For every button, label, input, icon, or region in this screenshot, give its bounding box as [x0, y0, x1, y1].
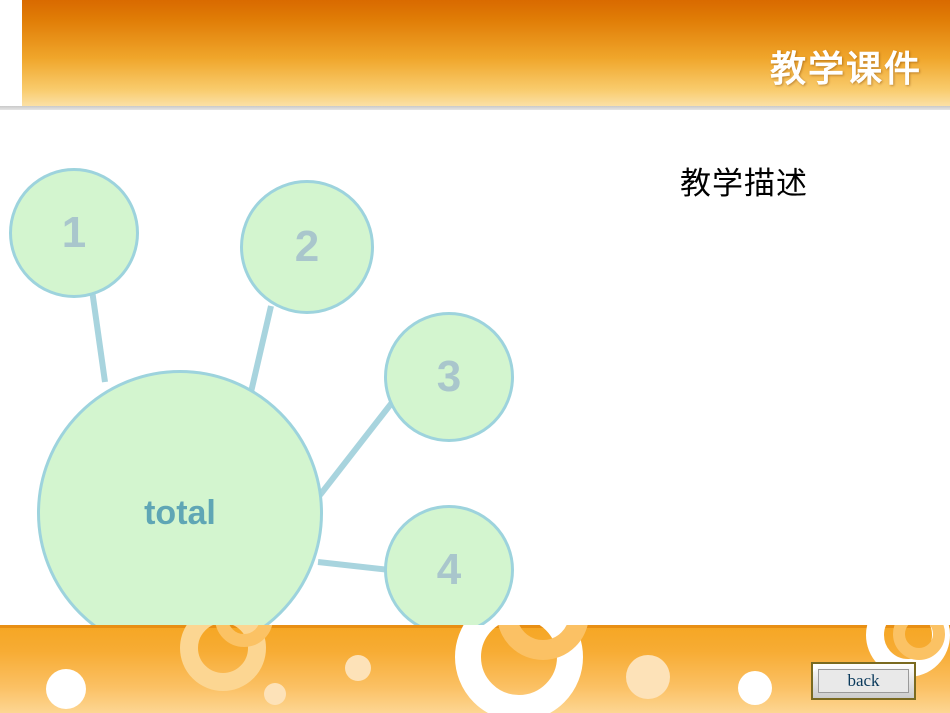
bubble-4-label: 4 — [437, 545, 461, 595]
footer-dot-4 — [738, 671, 772, 705]
page-title: 教学课件 — [770, 40, 922, 92]
footer-dot-1 — [46, 669, 86, 709]
header-left-notch — [0, 0, 22, 106]
back-button[interactable]: back — [811, 662, 916, 700]
bubble-diagram: total 1 2 3 4 — [0, 110, 620, 670]
bubble-1[interactable]: 1 — [9, 168, 139, 298]
footer-dot-2 — [345, 655, 371, 681]
bubble-1-label: 1 — [62, 208, 86, 258]
bubble-2[interactable]: 2 — [240, 180, 374, 314]
bubble-3[interactable]: 3 — [384, 312, 514, 442]
footer-dot-5 — [264, 683, 286, 705]
footer-band — [0, 625, 950, 713]
footer-dot-3 — [626, 655, 670, 699]
bubble-total-label: total — [144, 494, 216, 533]
slide-canvas: 教学课件 教学描述 total 1 2 3 4 — [0, 0, 950, 713]
bubble-2-label: 2 — [295, 222, 319, 272]
bubble-4[interactable]: 4 — [384, 505, 514, 635]
header-bar: 教学课件 — [0, 0, 950, 106]
bubble-3-label: 3 — [437, 352, 461, 402]
section-heading: 教学描述 — [680, 158, 808, 203]
back-button-label: back — [813, 664, 914, 698]
bubble-total[interactable]: total — [37, 370, 323, 656]
